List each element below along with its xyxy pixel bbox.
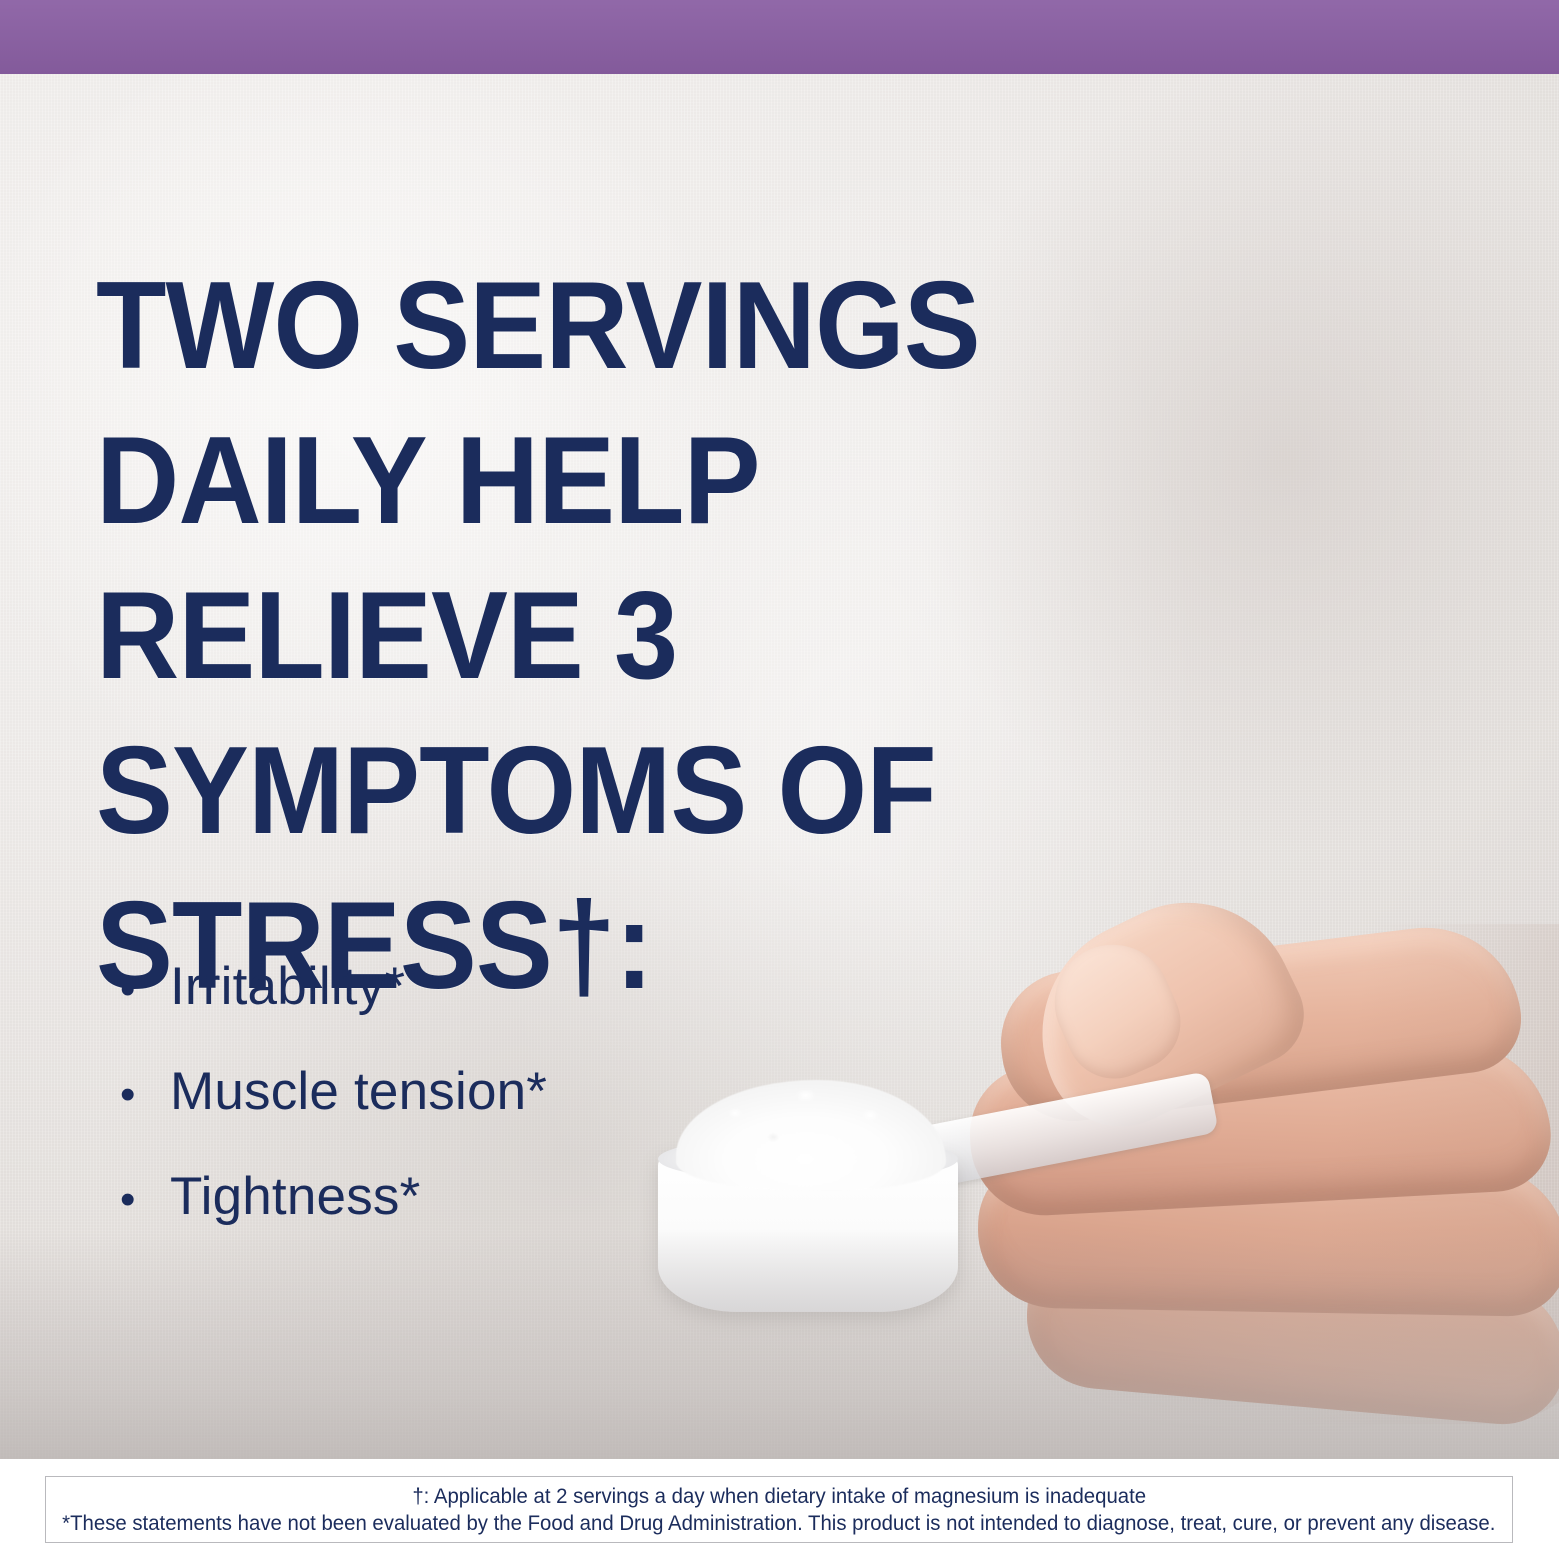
fda-disclaimer: *These statements have not been evaluate…: [62, 1510, 1495, 1537]
disclaimer-box: †: Applicable at 2 servings a day when d…: [45, 1476, 1513, 1543]
symptom-label: Irritability*: [170, 960, 405, 1013]
bullet-dot-icon: •: [120, 968, 170, 1012]
symptom-list: • Irritability* • Muscle tension* • Tigh…: [120, 960, 880, 1275]
list-item: • Tightness*: [120, 1170, 880, 1223]
bullet-dot-icon: •: [120, 1178, 170, 1222]
list-item: • Muscle tension*: [120, 1065, 880, 1118]
top-accent-band: [0, 0, 1559, 74]
symptom-label: Tightness*: [170, 1170, 420, 1223]
bullet-dot-icon: •: [120, 1073, 170, 1117]
page-title: TWO SERVINGS DAILY HELP RELIEVE 3 SYMPTO…: [96, 249, 1035, 1024]
list-item: • Irritability*: [120, 960, 880, 1013]
dagger-disclaimer: †: Applicable at 2 servings a day when d…: [412, 1483, 1146, 1510]
product-claim-banner: TWO SERVINGS DAILY HELP RELIEVE 3 SYMPTO…: [0, 0, 1559, 1559]
symptom-label: Muscle tension*: [170, 1065, 547, 1118]
band-sheen: [0, 0, 1559, 74]
